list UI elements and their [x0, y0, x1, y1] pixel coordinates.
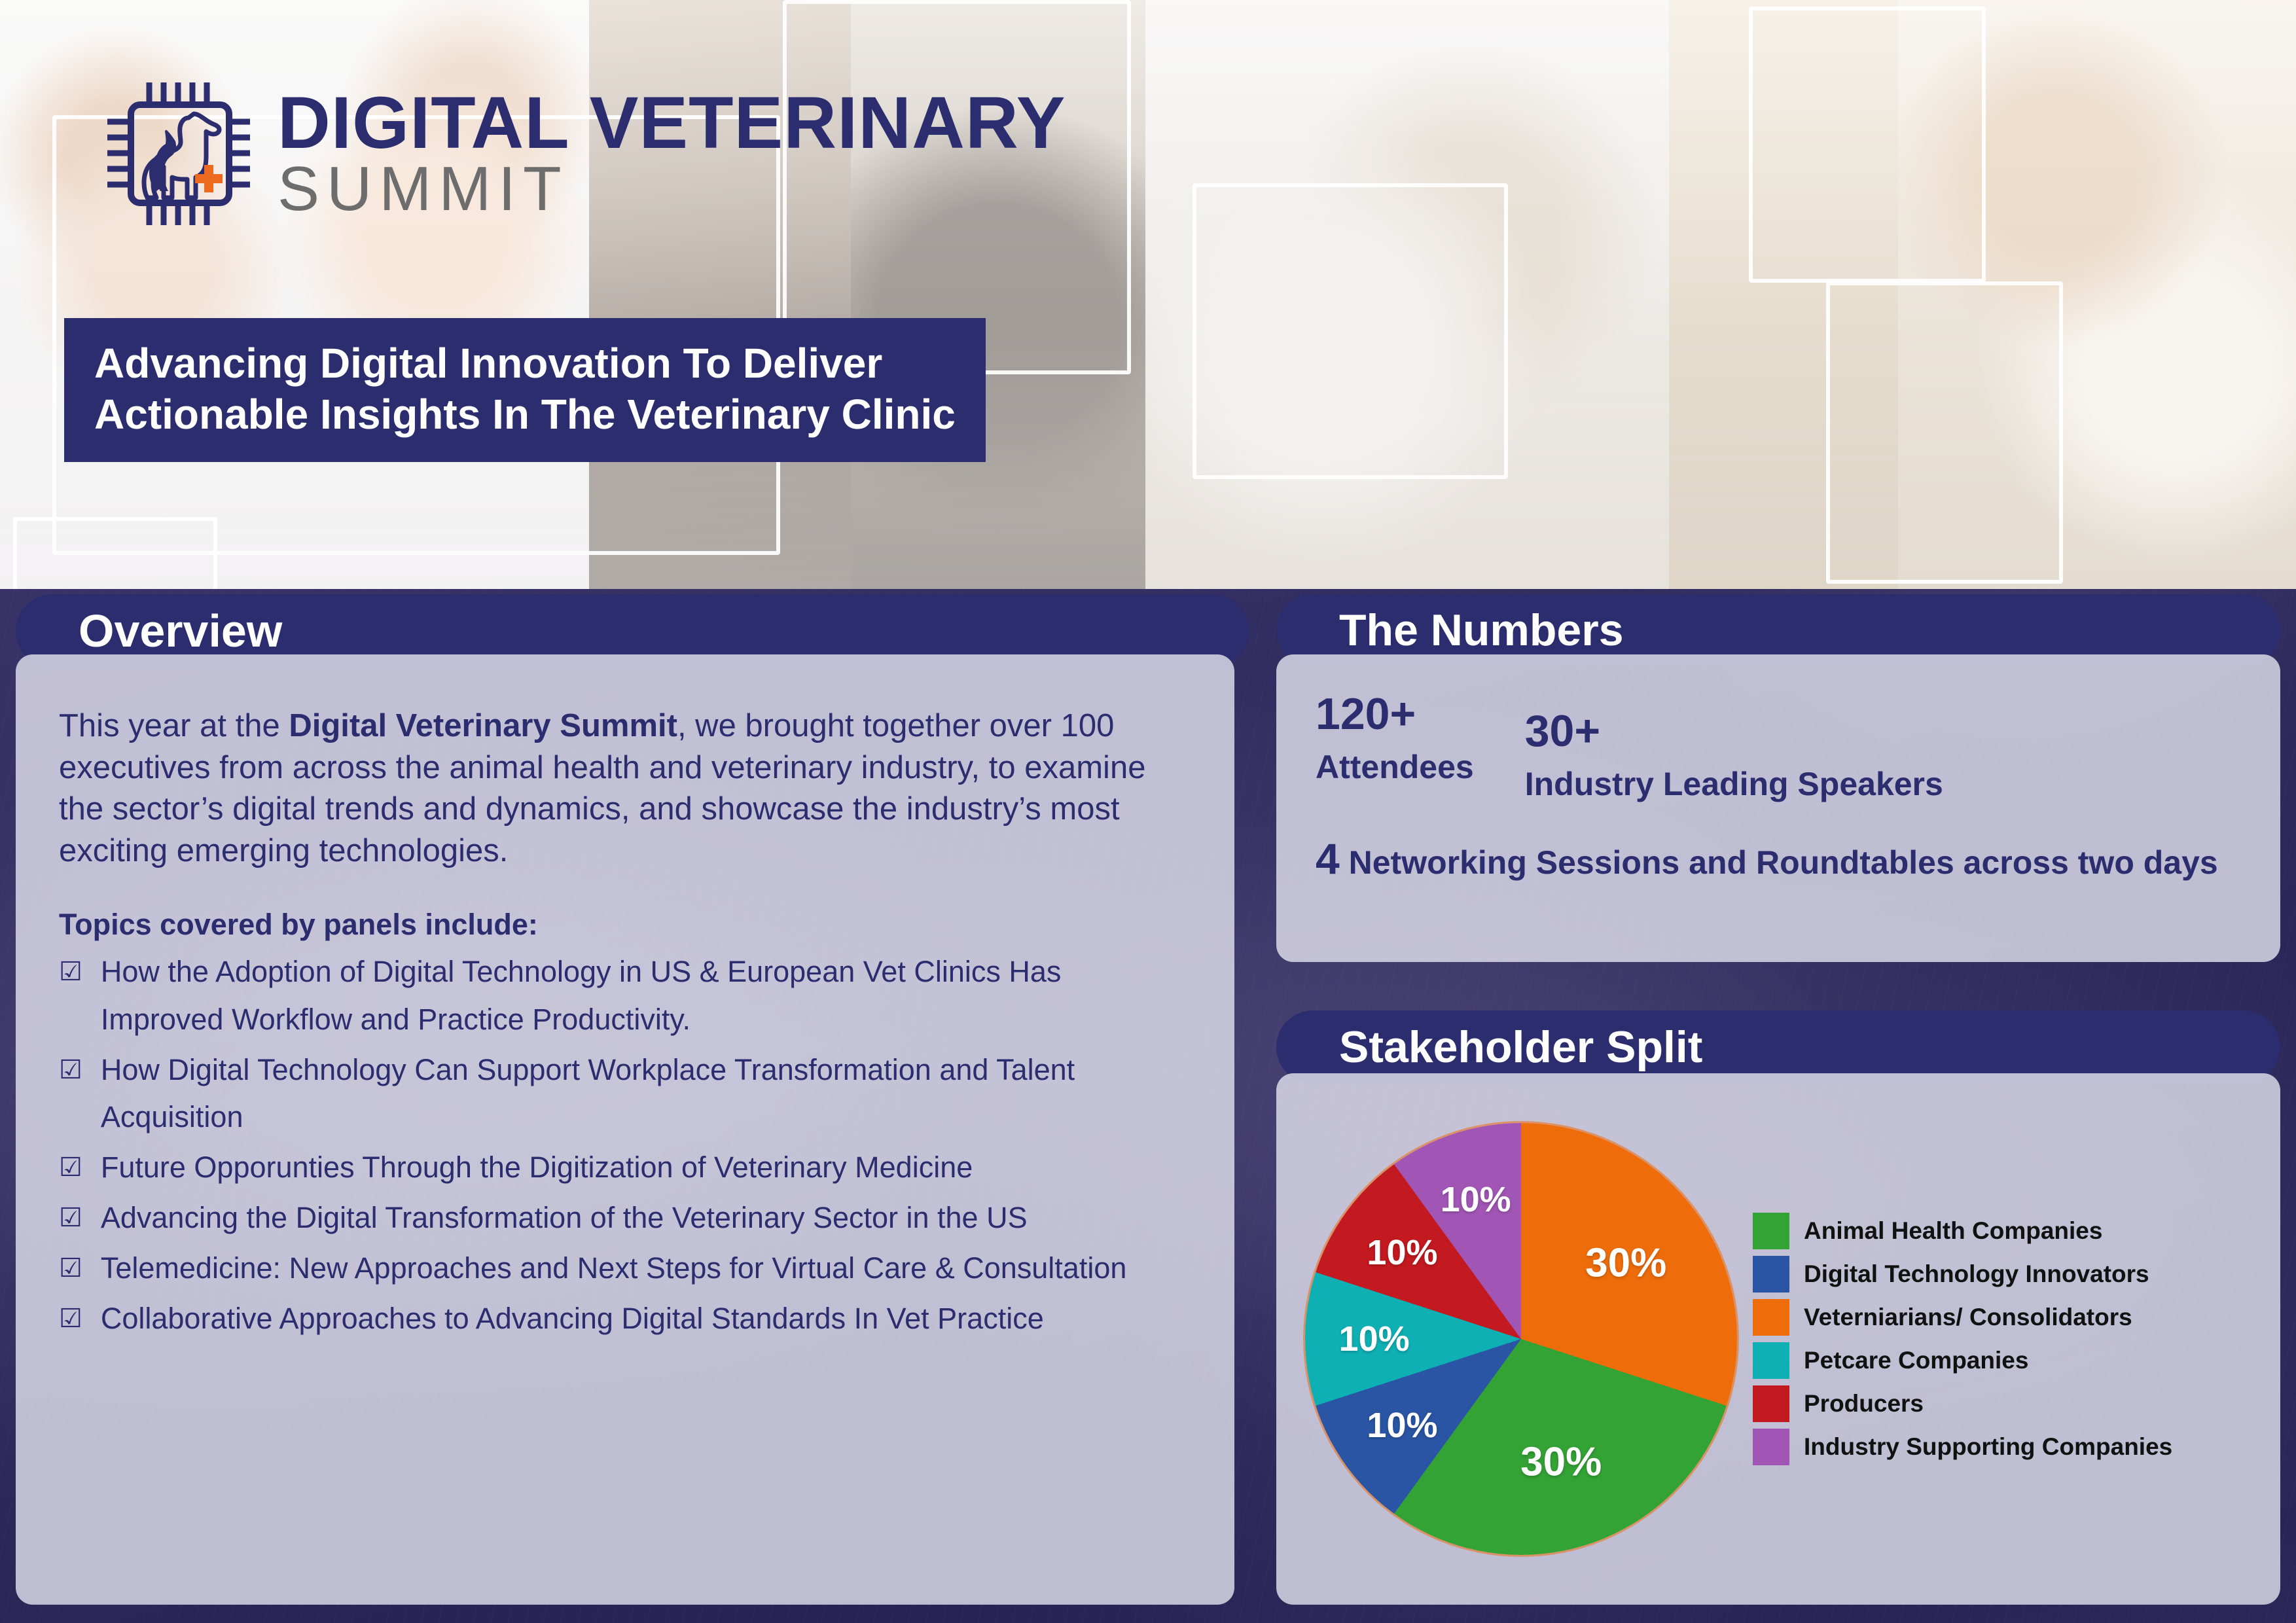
- legend-swatch-icon: [1753, 1256, 1789, 1293]
- hero-header: DIGITAL VETERINARY SUMMIT Advancing Digi…: [0, 0, 2296, 589]
- legend-item: Animal Health Companies: [1753, 1213, 2258, 1249]
- overview-panel-body: This year at the Digital Veterinary Summ…: [16, 654, 1234, 1605]
- numbers-heading: The Numbers: [1339, 605, 1624, 656]
- pie-slice-label: 10%: [1441, 1179, 1511, 1220]
- legend-item: Industry Supporting Companies: [1753, 1429, 2258, 1465]
- overview-topics-list: ☑ How the Adoption of Digital Technology…: [59, 948, 1191, 1343]
- list-item-label: How the Adoption of Digital Technology i…: [101, 948, 1191, 1044]
- hero-frame-5: [1749, 7, 1986, 283]
- checkbox-checked-icon: ☑: [59, 1298, 82, 1340]
- numbers-panel-body: 120+ Attendees 30+ Industry Leading Spea…: [1276, 654, 2280, 962]
- hero-frame-2: [13, 517, 217, 589]
- numbers-stat-row: 120+ Attendees 30+ Industry Leading Spea…: [1316, 691, 2241, 802]
- list-item: ☑ How the Adoption of Digital Technology…: [59, 948, 1191, 1044]
- stakeholder-legend: Animal Health CompaniesDigital Technolog…: [1750, 1213, 2258, 1465]
- hero-headline-line1: Advancing Digital Innovation To Deliver: [94, 338, 956, 389]
- pie-slice-label: 10%: [1367, 1405, 1437, 1446]
- brand-title-line1: DIGITAL VETERINARY: [278, 89, 1066, 156]
- stat-attendees: 120+ Attendees: [1316, 691, 1474, 785]
- legend-swatch-icon: [1753, 1299, 1789, 1336]
- checkbox-checked-icon: ☑: [59, 951, 82, 993]
- list-item: ☑ Telemedicine: New Approaches and Next …: [59, 1245, 1191, 1293]
- overview-paragraph: This year at the Digital Veterinary Summ…: [59, 705, 1191, 872]
- checkbox-checked-icon: ☑: [59, 1147, 82, 1189]
- stakeholder-heading: Stakeholder Split: [1339, 1022, 1702, 1073]
- legend-item-label: Digital Technology Innovators: [1804, 1261, 2149, 1288]
- brand-title: DIGITAL VETERINARY SUMMIT: [278, 89, 1066, 218]
- list-item-label: Future Opporunties Through the Digitizat…: [101, 1144, 973, 1192]
- legend-item: Petcare Companies: [1753, 1342, 2258, 1379]
- overview-paragraph-pre: This year at the: [59, 708, 289, 743]
- pie-slice-label: 30%: [1520, 1439, 1602, 1486]
- stat-speakers-value: 30+: [1525, 708, 1943, 755]
- list-item: ☑ Collaborative Approaches to Advancing …: [59, 1295, 1191, 1343]
- legend-swatch-icon: [1753, 1429, 1789, 1465]
- legend-swatch-icon: [1753, 1342, 1789, 1379]
- legend-item: Producers: [1753, 1385, 2258, 1422]
- overview-paragraph-bold: Digital Veterinary Summit: [289, 708, 677, 743]
- infographic-canvas: DIGITAL VETERINARY SUMMIT Advancing Digi…: [0, 0, 2296, 1623]
- legend-item: Digital Technology Innovators: [1753, 1256, 2258, 1293]
- stakeholder-pie-chart: 30%30%10%10%10%10%: [1305, 1123, 1737, 1555]
- list-item: ☑ Advancing the Digital Transformation o…: [59, 1194, 1191, 1242]
- hero-headline-banner: Advancing Digital Innovation To Deliver …: [64, 318, 986, 462]
- stat-attendees-label: Attendees: [1316, 749, 1474, 785]
- list-item-label: Telemedicine: New Approaches and Next St…: [101, 1245, 1127, 1293]
- pie-slice-label: 10%: [1367, 1232, 1437, 1273]
- stat-sessions-label: Networking Sessions and Roundtables acro…: [1349, 844, 2218, 881]
- legend-item-label: Petcare Companies: [1804, 1347, 2028, 1374]
- list-item: ☑ Future Opporunties Through the Digitiz…: [59, 1144, 1191, 1192]
- stat-sessions-value: 4: [1316, 834, 1340, 883]
- stat-speakers: 30+ Industry Leading Speakers: [1525, 691, 1943, 802]
- stat-attendees-value: 120+: [1316, 691, 1474, 738]
- pie-slice-label: 10%: [1339, 1319, 1410, 1359]
- list-item: ☑ How Digital Technology Can Support Wor…: [59, 1046, 1191, 1142]
- legend-item-label: Industry Supporting Companies: [1804, 1434, 2172, 1461]
- hero-frame-4: [1193, 183, 1508, 479]
- brand-logo: DIGITAL VETERINARY SUMMIT: [105, 79, 1066, 229]
- list-item-label: Advancing the Digital Transformation of …: [101, 1194, 1028, 1242]
- checkbox-checked-icon: ☑: [59, 1197, 82, 1240]
- legend-item-label: Animal Health Companies: [1804, 1218, 2102, 1245]
- overview-heading: Overview: [79, 605, 282, 657]
- stakeholder-panel-body: 30%30%10%10%10%10% Animal Health Compani…: [1276, 1073, 2280, 1605]
- stat-speakers-label: Industry Leading Speakers: [1525, 766, 1943, 802]
- hero-frame-6: [1826, 281, 2063, 584]
- checkbox-checked-icon: ☑: [59, 1247, 82, 1290]
- legend-item-label: Veterniarians/ Consolidators: [1804, 1304, 2132, 1331]
- overview-topics-label: Topics covered by panels include:: [59, 908, 1191, 942]
- checkbox-checked-icon: ☑: [59, 1049, 82, 1092]
- legend-item-label: Producers: [1804, 1391, 1924, 1418]
- legend-swatch-icon: [1753, 1213, 1789, 1249]
- hero-headline-line2: Actionable Insights In The Veterinary Cl…: [94, 389, 956, 440]
- brand-title-line2: SUMMIT: [278, 160, 1066, 218]
- vet-chip-logo-icon: [105, 79, 255, 229]
- stat-sessions: 4 Networking Sessions and Roundtables ac…: [1316, 831, 2241, 886]
- list-item-label: Collaborative Approaches to Advancing Di…: [101, 1295, 1044, 1343]
- list-item-label: How Digital Technology Can Support Workp…: [101, 1046, 1191, 1142]
- legend-swatch-icon: [1753, 1385, 1789, 1422]
- legend-item: Veterniarians/ Consolidators: [1753, 1299, 2258, 1336]
- pie-slice-label: 30%: [1585, 1240, 1666, 1286]
